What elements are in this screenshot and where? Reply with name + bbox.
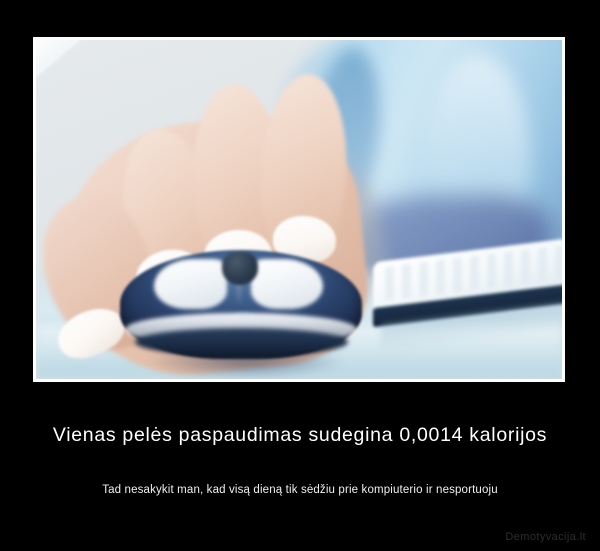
poster-subtitle: Tad nesakykit man, kad visą dieną tik sė… (0, 484, 600, 496)
footer-watermark: Demotyvacija.lt (505, 531, 586, 543)
demotivational-poster: Demotyvacija.lt Vienas pelės paspaudimas… (0, 0, 600, 551)
wireless-mouse (120, 250, 362, 358)
wireless-signal-icon (227, 307, 261, 331)
mouse-scroll-wheel (222, 252, 258, 285)
mouse-left-button (154, 259, 227, 309)
photo-frame: Demotyvacija.lt (33, 37, 565, 382)
keyboard (373, 250, 562, 345)
photo-image: Demotyvacija.lt (36, 40, 562, 379)
poster-caption: Vienas pelės paspaudimas sudegina 0,0014… (0, 424, 600, 447)
